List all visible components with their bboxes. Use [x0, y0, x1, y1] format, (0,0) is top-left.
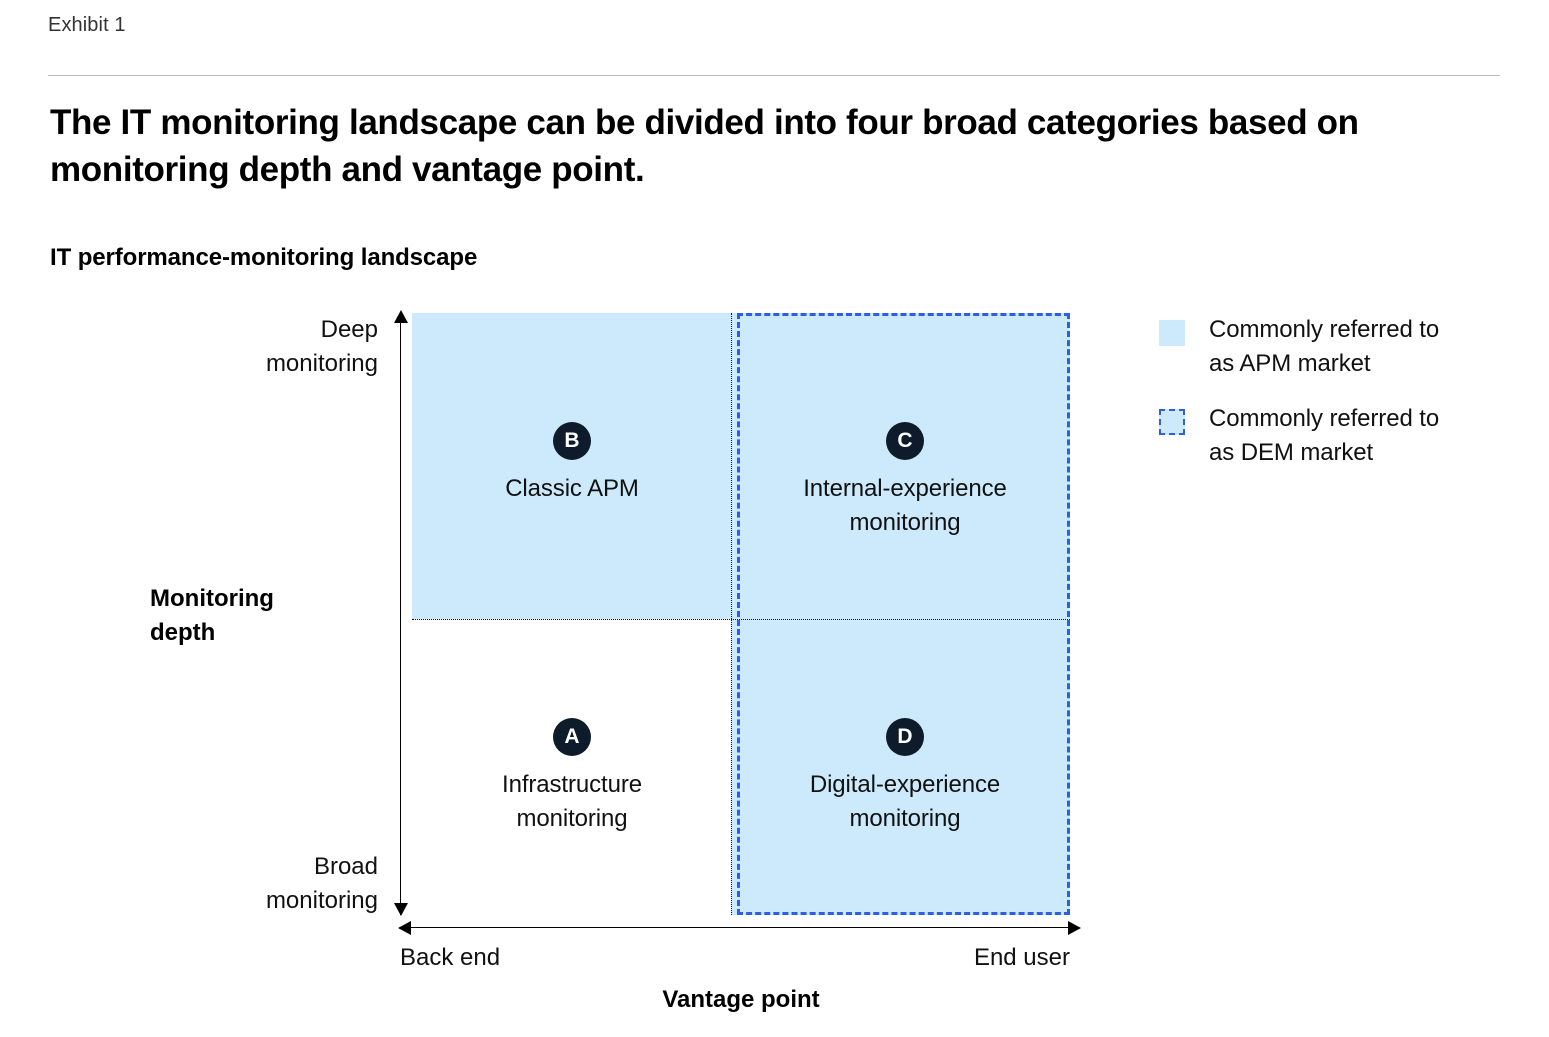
legend-label-dem-line2: as DEM market — [1209, 436, 1439, 470]
legend-label-dem: Commonly referred to as DEM market — [1209, 402, 1439, 470]
x-axis-line — [405, 927, 1073, 928]
x-axis-high-label: End user — [770, 941, 1070, 975]
y-axis-high-label-line2: monitoring — [100, 347, 378, 381]
x-axis-left-arrow-icon — [398, 921, 411, 935]
x-axis-right-arrow-icon — [1068, 921, 1081, 935]
quadrant-name-b: Classic APM — [422, 472, 722, 506]
quadrant-name-d-line2: monitoring — [755, 802, 1055, 836]
legend-item-dem: Commonly referred to as DEM market — [1159, 402, 1519, 470]
quadrant-name-a-line1: Infrastructure — [422, 768, 722, 802]
quadrant-label-c: C Internal-experience monitoring — [755, 422, 1055, 540]
legend-label-apm-line2: as APM market — [1209, 347, 1439, 381]
quadrant-name-c-line2: monitoring — [755, 506, 1055, 540]
quadrant-badge-b: B — [553, 422, 591, 460]
legend-swatch-apm-icon — [1159, 320, 1185, 346]
y-axis-high-label-line1: Deep — [100, 313, 378, 347]
quadrant-vertical-divider — [731, 313, 732, 915]
legend-label-apm-line1: Commonly referred to — [1209, 313, 1439, 347]
quadrant-label-d: D Digital-experience monitoring — [755, 718, 1055, 836]
quadrant-chart: B Classic APM C Internal-experience moni… — [0, 0, 1549, 1037]
y-axis-title-line2: depth — [150, 616, 380, 650]
legend-item-apm: Commonly referred to as APM market — [1159, 313, 1519, 381]
quadrant-name-a-line2: monitoring — [422, 802, 722, 836]
quadrant-name-d-line1: Digital-experience — [755, 768, 1055, 802]
quadrant-badge-d: D — [886, 718, 924, 756]
x-axis-low-label: Back end — [400, 941, 500, 975]
quadrant-label-b: B Classic APM — [422, 422, 722, 506]
y-axis-high-label: Deep monitoring — [100, 313, 378, 381]
y-axis-low-label-line1: Broad — [100, 850, 378, 884]
legend-swatch-dem-icon — [1159, 409, 1185, 435]
y-axis-title-line1: Monitoring — [150, 582, 380, 616]
y-axis-low-label-line2: monitoring — [100, 884, 378, 918]
y-axis-line — [400, 318, 401, 915]
quadrant-badge-a: A — [553, 718, 591, 756]
quadrant-label-a: A Infrastructure monitoring — [422, 718, 722, 836]
quadrant-name-c-line1: Internal-experience — [755, 472, 1055, 506]
legend-label-apm: Commonly referred to as APM market — [1209, 313, 1439, 381]
x-axis-title: Vantage point — [412, 986, 1070, 1014]
y-axis-down-arrow-icon — [394, 903, 408, 916]
y-axis-low-label: Broad monitoring — [100, 850, 378, 918]
chart-legend: Commonly referred to as APM market Commo… — [1159, 313, 1519, 491]
y-axis-title: Monitoring depth — [150, 582, 380, 650]
y-axis-up-arrow-icon — [394, 310, 408, 323]
legend-label-dem-line1: Commonly referred to — [1209, 402, 1439, 436]
quadrant-badge-c: C — [886, 422, 924, 460]
